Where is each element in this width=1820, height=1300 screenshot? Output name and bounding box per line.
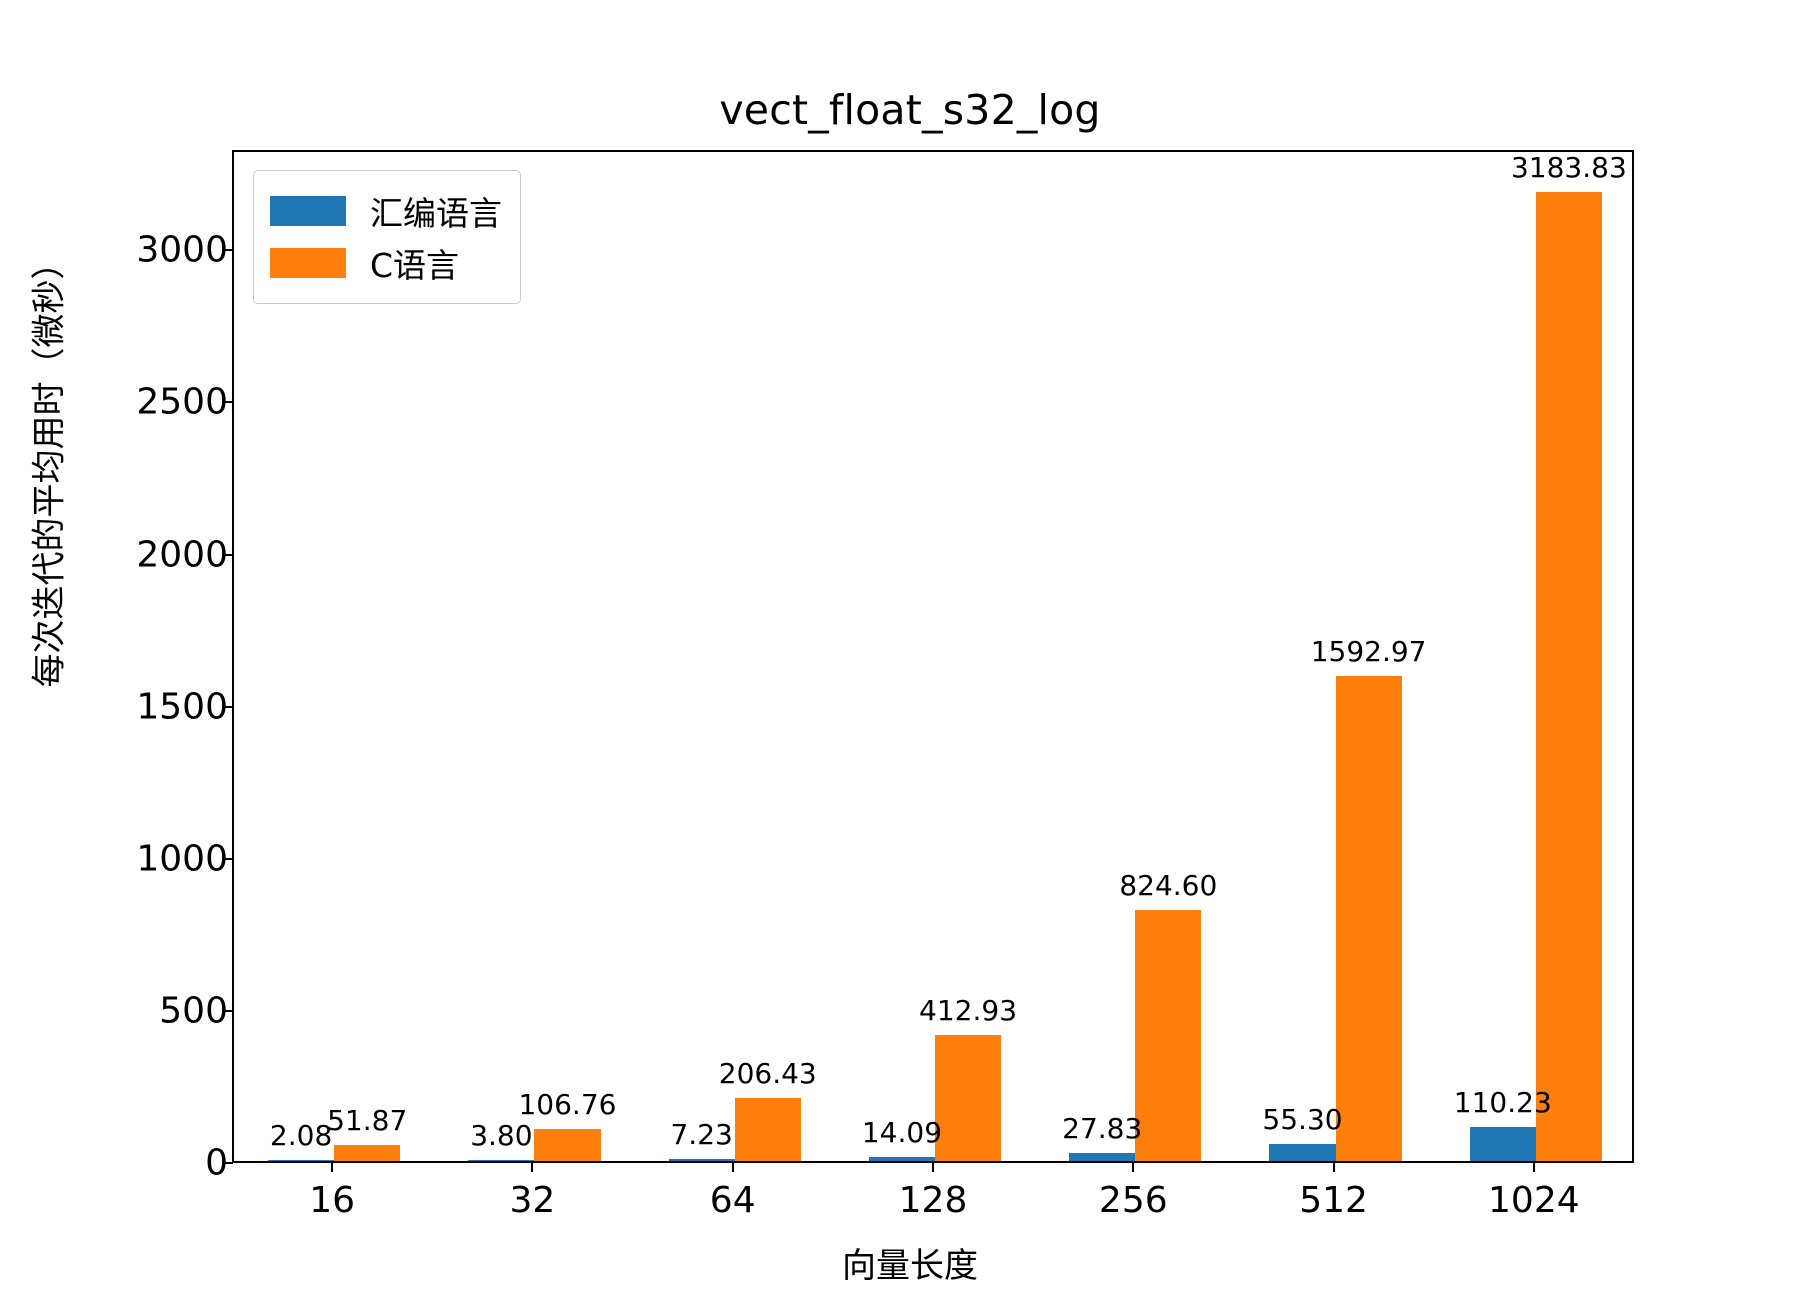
legend-label: C语言: [370, 239, 459, 287]
bar-value-label: 412.93: [919, 994, 1017, 1027]
legend-entry[interactable]: C语言: [270, 237, 502, 289]
x-axis-tick-mark: [331, 1163, 333, 1172]
legend-swatch-icon: [270, 248, 346, 278]
x-axis-tick-mark: [1333, 1163, 1335, 1172]
bar-value-label: 110.23: [1454, 1086, 1552, 1119]
chart-title: vect_float_s32_log: [0, 86, 1820, 134]
x-axis-tick-mark: [932, 1163, 934, 1172]
bar-value-label: 1592.97: [1311, 635, 1427, 668]
bar: [1069, 1153, 1135, 1161]
bar: [1336, 676, 1402, 1161]
x-axis-tick-label: 1024: [1414, 1180, 1654, 1221]
bar: [1470, 1127, 1536, 1161]
bar-value-label: 106.76: [518, 1088, 616, 1121]
bar: [534, 1129, 600, 1161]
bar: [1135, 910, 1201, 1161]
plot-area: 2.083.807.2314.0927.8355.30110.2351.8710…: [232, 150, 1634, 1163]
y-axis-tick-label: 0: [28, 1143, 228, 1184]
legend-entry[interactable]: 汇编语言: [270, 185, 502, 237]
bar: [268, 1160, 334, 1162]
y-axis-tick-label: 1500: [28, 686, 228, 727]
x-axis-label: 向量长度: [0, 1238, 1820, 1287]
bar-value-label: 7.23: [670, 1118, 732, 1151]
y-axis-tick-label: 1000: [28, 838, 228, 879]
bar: [735, 1098, 801, 1161]
chart-figure: vect_float_s32_log 每次迭代的平均用时（微秒） 向量长度 05…: [0, 0, 1820, 1300]
legend-label: 汇编语言: [370, 187, 502, 235]
legend-swatch-icon: [270, 196, 346, 226]
legend[interactable]: 汇编语言C语言: [253, 170, 521, 304]
bar: [869, 1157, 935, 1161]
y-axis-tick-label: 3000: [28, 230, 228, 271]
y-axis-tick-label: 2500: [28, 382, 228, 423]
y-axis-tick-label: 500: [28, 990, 228, 1031]
bar: [935, 1035, 1001, 1161]
bar: [1536, 192, 1602, 1161]
bar-value-label: 3.80: [470, 1119, 532, 1152]
bar: [1269, 1144, 1335, 1161]
bar: [468, 1160, 534, 1162]
x-axis-tick-mark: [1132, 1163, 1134, 1172]
bar-value-label: 14.09: [862, 1116, 942, 1149]
bar-value-label: 27.83: [1062, 1112, 1142, 1145]
bar-value-label: 824.60: [1119, 869, 1217, 902]
bar: [334, 1145, 400, 1161]
x-axis-tick-mark: [1533, 1163, 1535, 1172]
bar-value-label: 51.87: [327, 1104, 407, 1137]
bar-value-label: 2.08: [270, 1119, 332, 1152]
y-axis-tick-label: 2000: [28, 534, 228, 575]
bar-value-label: 206.43: [719, 1057, 817, 1090]
bar-value-label: 55.30: [1262, 1103, 1342, 1136]
bar: [669, 1159, 735, 1161]
y-axis-label: 每次迭代的平均用时（微秒）: [22, 27, 71, 907]
bar-value-label: 3183.83: [1511, 151, 1627, 184]
x-axis-tick-mark: [531, 1163, 533, 1172]
x-axis-tick-mark: [732, 1163, 734, 1172]
